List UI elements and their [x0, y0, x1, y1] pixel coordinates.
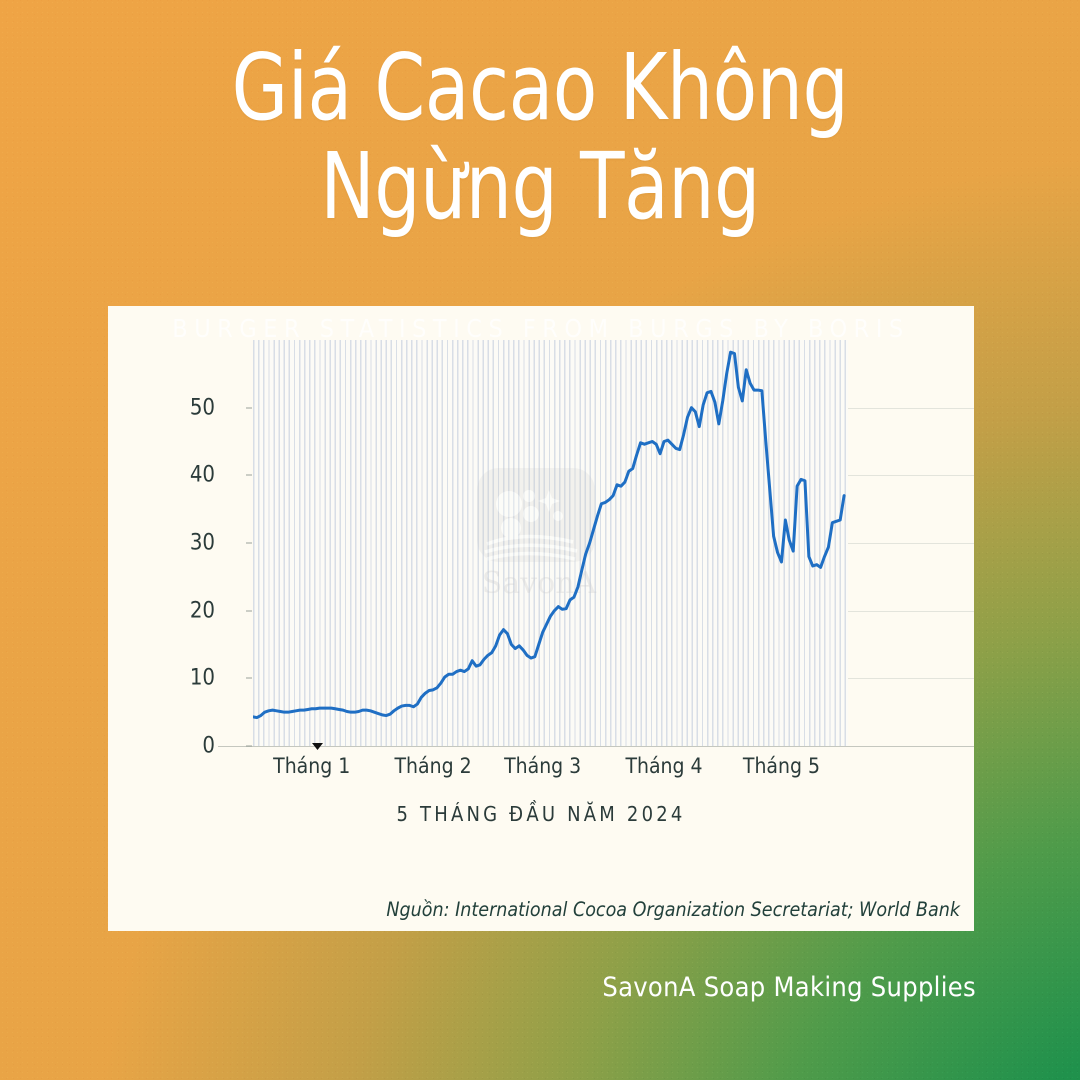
y-axis: 01020304050: [108, 306, 253, 786]
x-tick-label: Tháng 5: [743, 754, 820, 778]
y-tick-mark: [246, 543, 252, 544]
y-tick-mark: [246, 407, 252, 408]
y-tick-label: 20: [190, 598, 215, 623]
x-tick-label: Tháng 3: [504, 754, 581, 778]
y-tick-label: 50: [190, 395, 215, 420]
x-tick-label: Tháng 1: [273, 754, 350, 778]
title-line-2: Ngừng Tăng: [65, 137, 1015, 236]
x-axis-line: [218, 746, 974, 747]
chart-card: BURGER STATISTICS FROM BURGS BY BORIS Sa…: [108, 306, 974, 931]
chart-subtitle: 5 THÁNG ĐẦU NĂM 2024: [108, 802, 974, 826]
brand-footer: SavonA Soap Making Supplies: [602, 972, 976, 1003]
y-tick-label: 10: [190, 666, 215, 691]
chart-source-note: Nguồn: International Cocoa Organization …: [386, 898, 960, 921]
y-tick-label: 30: [190, 531, 215, 556]
y-tick-label: 40: [190, 463, 215, 488]
chart-plot-wrapper: SavonA 01020304050 Tháng 1Tháng 2Tháng 3…: [108, 306, 974, 931]
y-tick-mark: [246, 475, 252, 476]
x-tick-label: Tháng 4: [625, 754, 702, 778]
title-line-1: Giá Cacao Không: [65, 38, 1015, 137]
page-title: Giá Cacao Không Ngừng Tăng: [65, 38, 1015, 237]
y-tick-mark: [246, 678, 252, 679]
x-axis: Tháng 1Tháng 2Tháng 3Tháng 4Tháng 5: [108, 754, 974, 794]
price-line-series: [253, 340, 848, 746]
x-tick-label: Tháng 2: [395, 754, 472, 778]
y-tick-mark: [246, 610, 252, 611]
